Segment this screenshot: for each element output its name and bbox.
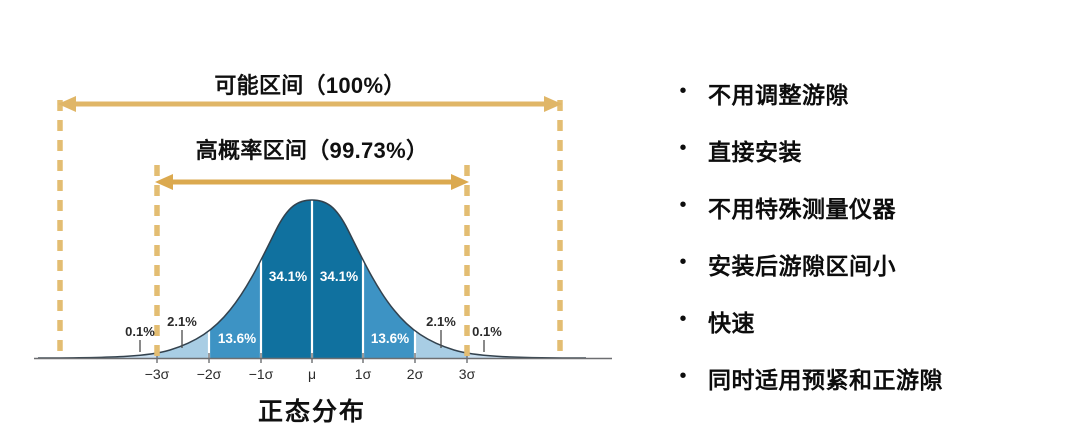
band-label-left-13-6: 13.6% (218, 331, 256, 346)
band-label-right-34-1: 34.1% (320, 269, 358, 284)
band-label-left-2-1: 2.1% (167, 314, 197, 329)
band-left-2-1 (157, 190, 209, 360)
list-item: • 直接安装 (672, 135, 802, 165)
possible-range-caption: 可能区间（100%） (0, 68, 620, 100)
x-axis-tick-labels: −3σ −2σ −1σ μ 1σ 2σ 3σ (145, 366, 476, 382)
band-label-right-0-1: 0.1% (472, 324, 502, 339)
benefits-bullet-list: • 不用调整游隙 • 直接安装 • 不用特殊测量仪器 • 安装后游隙区间小 • … (672, 78, 1072, 408)
chart-title: 正态分布 (0, 392, 624, 428)
list-item-label: 不用特殊测量仪器 (708, 190, 896, 224)
x-tick-label-minus1sigma: −1σ (249, 366, 274, 382)
list-item: • 不用特殊测量仪器 (672, 192, 896, 222)
list-item-label: 安装后游隙区间小 (708, 247, 896, 281)
arrow-high-probability-range (155, 174, 469, 190)
x-tick-label-plus3sigma: 3σ (459, 366, 476, 382)
x-tick-label-minus3sigma: −3σ (145, 366, 170, 382)
bullet-marker-icon: • (672, 81, 694, 101)
band-label-left-0-1: 0.1% (125, 324, 155, 339)
list-item-label: 同时适用预紧和正游隙 (708, 361, 943, 395)
list-item: • 安装后游隙区间小 (672, 249, 896, 279)
list-item-label: 快速 (708, 304, 755, 338)
x-tick-label-plus1sigma: 1σ (355, 366, 372, 382)
band-label-left-34-1: 34.1% (269, 269, 307, 284)
list-item-label: 不用调整游隙 (708, 76, 849, 110)
bullet-marker-icon: • (672, 252, 694, 272)
x-tick-label-minus2sigma: −2σ (197, 366, 222, 382)
bullet-marker-icon: • (672, 195, 694, 215)
bullet-marker-icon: • (672, 138, 694, 158)
band-label-right-13-6: 13.6% (371, 331, 409, 346)
x-tick-label-plus2sigma: 2σ (407, 366, 424, 382)
bullet-marker-icon: • (672, 309, 694, 329)
high-probability-range-caption: 高概率区间（99.73%） (0, 133, 624, 165)
list-item: • 同时适用预紧和正游隙 (672, 363, 943, 393)
x-tick-label-mu: μ (308, 366, 316, 382)
band-label-right-2-1: 2.1% (426, 314, 456, 329)
list-item: • 快速 (672, 306, 755, 336)
slide-root: 0.1% 2.1% 13.6% 34.1% 34.1% 13.6% 2.1% 0… (0, 0, 1080, 438)
probability-bands (0, 190, 627, 360)
normal-distribution-chart: 0.1% 2.1% 13.6% 34.1% 34.1% 13.6% 2.1% 0… (0, 0, 640, 438)
list-item-label: 直接安装 (708, 133, 802, 167)
bullet-marker-icon: • (672, 366, 694, 386)
chart-canvas: 0.1% 2.1% 13.6% 34.1% 34.1% 13.6% 2.1% 0… (0, 0, 640, 438)
list-item: • 不用调整游隙 (672, 78, 849, 108)
